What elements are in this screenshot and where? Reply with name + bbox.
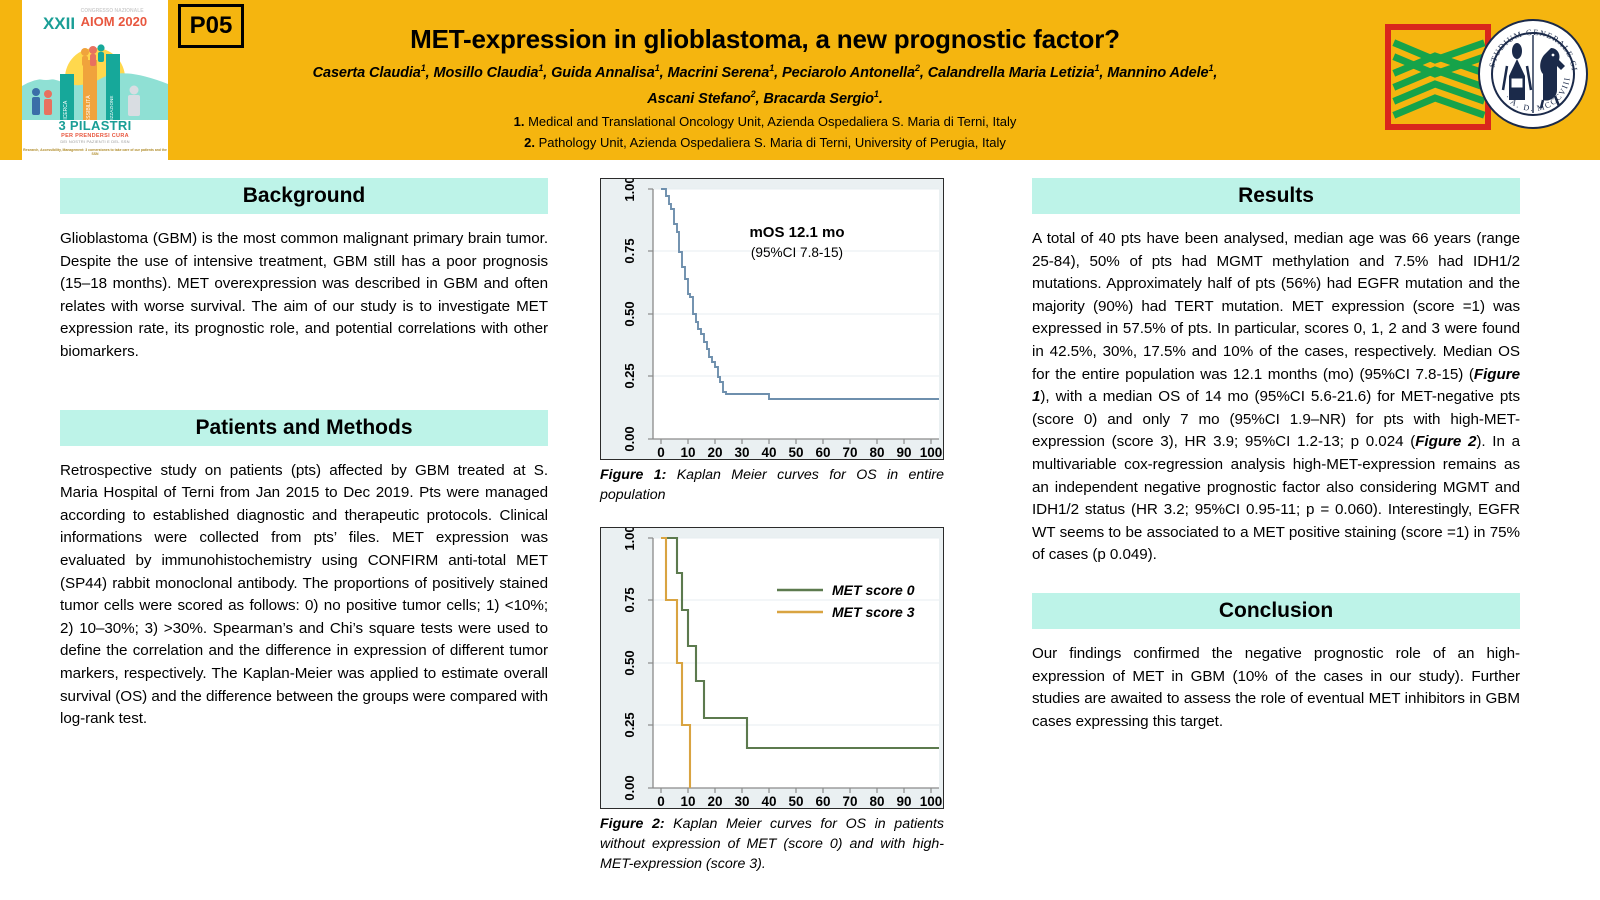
right-column: Results A total of 40 pts have been anal… xyxy=(1032,178,1520,733)
svg-text:70: 70 xyxy=(842,445,857,459)
poster-root: XXII CONGRESSO NAZIONALE AIOM 2020 xyxy=(0,0,1600,900)
svg-text:0.00: 0.00 xyxy=(622,775,637,800)
section-header-results: Results xyxy=(1032,178,1520,214)
page-title: MET-expression in glioblastoma, a new pr… xyxy=(200,24,1330,54)
middle-column-figures: 1.00 0.75 0.50 0.25 0.00 xyxy=(600,178,960,874)
left-column: Background Glioblastoma (GBM) is the mos… xyxy=(60,178,548,731)
figure-1-label: Figure 1: xyxy=(600,467,666,483)
svg-text:0: 0 xyxy=(657,445,665,459)
svg-text:10: 10 xyxy=(680,794,695,808)
svg-text:20: 20 xyxy=(707,445,722,459)
figure-1-chart: 1.00 0.75 0.50 0.25 0.00 xyxy=(600,178,944,460)
svg-text:ACCESSIBILITÀ: ACCESSIBILITÀ xyxy=(85,95,92,120)
svg-text:30: 30 xyxy=(734,794,749,808)
aiom-congress-logo: XXII CONGRESSO NAZIONALE AIOM 2020 xyxy=(22,0,168,160)
svg-text:100: 100 xyxy=(920,445,943,459)
aiom-logo-title: XXII CONGRESSO NAZIONALE AIOM 2020 xyxy=(22,8,168,34)
svg-text:50: 50 xyxy=(788,794,803,808)
svg-text:80: 80 xyxy=(869,445,884,459)
svg-text:10: 10 xyxy=(680,445,695,459)
svg-text:ORGANIZZAZIONE: ORGANIZZAZIONE xyxy=(109,96,114,120)
affiliation-2: 2. Pathology Unit, Azienda Ospedaliera S… xyxy=(200,133,1330,152)
aiom-pillars-sub2: DEI NOSTRI PAZIENTI E DEL SSN xyxy=(22,139,168,144)
section-text-background: Glioblastoma (GBM) is the most common ma… xyxy=(60,228,548,364)
svg-text:0.50: 0.50 xyxy=(622,301,637,326)
authors-text-2: Ascani Stefano2, Bracarda Sergio1. xyxy=(647,91,883,107)
hospital-logo xyxy=(1385,24,1491,130)
svg-text:60: 60 xyxy=(815,445,830,459)
section-header-conclusion: Conclusion xyxy=(1032,593,1520,629)
svg-text:70: 70 xyxy=(842,794,857,808)
svg-text:RICERCA: RICERCA xyxy=(63,100,69,120)
svg-text:1.00: 1.00 xyxy=(622,528,637,551)
poster-header: XXII CONGRESSO NAZIONALE AIOM 2020 xyxy=(0,0,1600,160)
aiom-pillars-block: 3 PILASTRI PER PRENDERSI CURA DEI NOSTRI… xyxy=(22,118,168,144)
svg-text:0.25: 0.25 xyxy=(622,712,637,737)
figure-2-caption: Figure 2: Kaplan Meier curves for OS in … xyxy=(600,814,944,874)
svg-text:0.75: 0.75 xyxy=(622,587,637,612)
aiom-illustration: RICERCA ACCESSIBILITÀ ORGANIZZAZIONE xyxy=(22,34,168,120)
aiom-year-label: AIOM 2020 xyxy=(81,14,147,29)
section-text-results: A total of 40 pts have been analysed, me… xyxy=(1032,228,1520,567)
svg-text:0.50: 0.50 xyxy=(622,650,637,675)
svg-text:60: 60 xyxy=(815,794,830,808)
figure-2-chart: 1.00 0.75 0.50 0.25 0.00 xyxy=(600,527,944,809)
university-seal-logo: STUDIUM GENERALE CIVITATIS PERUSII · A. … xyxy=(1477,18,1589,130)
svg-text:80: 80 xyxy=(869,794,884,808)
column-spacer-2 xyxy=(1032,567,1520,593)
svg-text:50: 50 xyxy=(788,445,803,459)
svg-text:100: 100 xyxy=(920,794,943,808)
header-text-block: MET-expression in glioblastoma, a new pr… xyxy=(200,24,1330,152)
figure-1-annotation-line1: mOS 12.1 mo xyxy=(749,224,844,241)
section-header-methods: Patients and Methods xyxy=(60,410,548,446)
aiom-pillars-title: 3 PILASTRI xyxy=(22,118,168,133)
column-spacer xyxy=(60,364,548,410)
svg-text:40: 40 xyxy=(761,794,776,808)
svg-text:30: 30 xyxy=(734,445,749,459)
figure-1-caption: Figure 1: Kaplan Meier curves for OS in … xyxy=(600,465,944,505)
svg-text:0.75: 0.75 xyxy=(622,238,637,263)
figure-2-label: Figure 2: xyxy=(600,816,665,832)
authors-text-1: Caserta Claudia1, Mosillo Claudia1, Guid… xyxy=(313,65,1218,81)
authors-line-1: Caserta Claudia1, Mosillo Claudia1, Guid… xyxy=(200,58,1330,84)
svg-text:0.25: 0.25 xyxy=(622,363,637,388)
section-text-conclusion: Our findings confirmed the negative prog… xyxy=(1032,643,1520,733)
authors-line-2: Ascani Stefano2, Bracarda Sergio1. xyxy=(200,84,1330,110)
svg-text:90: 90 xyxy=(896,794,911,808)
svg-text:MET score 3: MET score 3 xyxy=(832,604,915,620)
figure-1-svg: 1.00 0.75 0.50 0.25 0.00 xyxy=(601,179,943,459)
section-text-methods: Retrospective study on patients (pts) af… xyxy=(60,460,548,731)
svg-text:20: 20 xyxy=(707,794,722,808)
svg-text:40: 40 xyxy=(761,445,776,459)
svg-text:MET score 0: MET score 0 xyxy=(832,582,915,598)
affiliation-1: 1. Medical and Translational Oncology Un… xyxy=(200,112,1330,131)
aiom-logo-footer: Research, Accessibility, Management: 3 c… xyxy=(22,148,168,157)
aiom-roman-label: XXII xyxy=(43,14,75,33)
figure-1-annotation-line2: (95%CI 7.8-15) xyxy=(751,245,843,260)
svg-text:0.00: 0.00 xyxy=(622,426,637,451)
figure-2-svg: 1.00 0.75 0.50 0.25 0.00 xyxy=(601,528,943,808)
svg-text:1.00: 1.00 xyxy=(622,179,637,202)
svg-text:0: 0 xyxy=(657,794,665,808)
figure-spacer xyxy=(600,505,960,527)
svg-text:90: 90 xyxy=(896,445,911,459)
section-header-background: Background xyxy=(60,178,548,214)
